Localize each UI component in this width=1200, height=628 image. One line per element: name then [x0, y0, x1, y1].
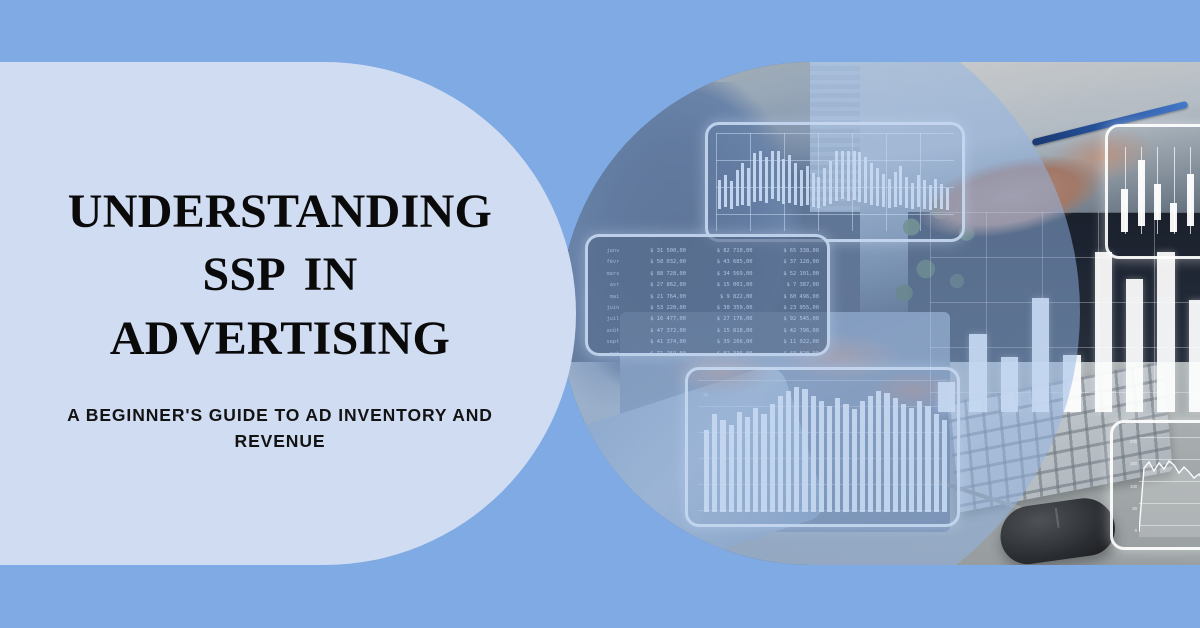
bar — [1189, 300, 1200, 412]
page-subtitle: A Beginner's Guide to Ad Inventory and R… — [52, 403, 508, 454]
title-line-3: Advertising — [110, 293, 450, 369]
page-title: Understanding SSP in Advertising — [52, 173, 508, 363]
headline-panel: Understanding SSP in Advertising A Begin… — [0, 62, 576, 565]
mini-candle-series — [1118, 141, 1200, 242]
blue-tint-circle — [560, 62, 1080, 565]
bar — [1126, 279, 1143, 412]
line-chart-y-axis: 200150100500 — [1119, 439, 1137, 533]
poster-canvas: janv$ 31 500,00$ 82 710,00$ 65 338,00fév… — [0, 0, 1200, 628]
bar — [1157, 252, 1174, 412]
bar — [1095, 252, 1112, 412]
line-chart-path — [1139, 437, 1200, 537]
mini-line-chart-overlay: 200150100500 — [1110, 420, 1200, 550]
mini-candlestick-overlay — [1105, 124, 1200, 259]
hero-photo: janv$ 31 500,00$ 82 710,00$ 65 338,00fév… — [560, 62, 1200, 565]
